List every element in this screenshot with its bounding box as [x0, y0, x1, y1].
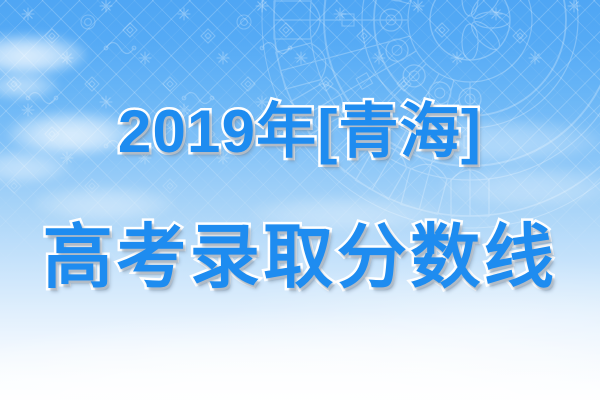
banner-title-line-1: 2019年[青海]: [0, 100, 600, 164]
snowflake-motif-pattern: [0, 0, 600, 400]
banner-title-line-2-text: 高考录取分数线: [43, 218, 558, 296]
banner: 2019年[青海] 高考录取分数线: [0, 0, 600, 400]
cloud-left-small: [0, 72, 58, 98]
cloud-shapes: [0, 0, 600, 400]
cloud-left-wisp: [34, 186, 174, 220]
diamond-lattice-pattern: [0, 0, 600, 400]
cloud-upper-left: [0, 34, 86, 74]
banner-title-line-1-text: 2019年[青海]: [118, 100, 482, 164]
circular-mandala-pattern: [0, 0, 600, 400]
banner-title-line-2: 高考录取分数线: [0, 218, 600, 296]
bottom-white-haze: [0, 0, 600, 400]
cloud-right-low: [440, 166, 600, 206]
